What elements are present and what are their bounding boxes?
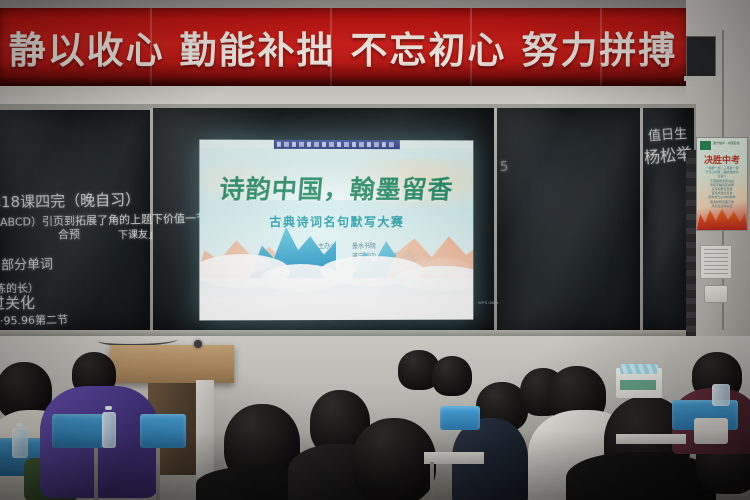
chalk-note: 解18课四完（晚自习） — [0, 188, 140, 212]
slide-bottom-band — [199, 298, 473, 321]
blackboard-divider — [640, 108, 643, 332]
blackboard-sheen — [496, 108, 640, 332]
wall-shelf — [684, 76, 720, 81]
waste-basket-label — [620, 380, 656, 390]
chalk-side-mark: 5 — [500, 160, 509, 175]
school-logo-text: 遂宁裕中 · 中国名校 — [713, 141, 740, 145]
foreground-shadow — [0, 430, 750, 500]
poster-title: 决胜中考 — [699, 153, 745, 166]
presentation-toolbar[interactable] — [274, 140, 400, 149]
student-head — [432, 356, 472, 396]
waste-basket-contents — [620, 364, 658, 374]
bottle-cap — [105, 406, 112, 410]
podium-top — [110, 345, 234, 383]
chalk-note: …部分单词 — [0, 253, 53, 273]
school-logo-icon — [700, 141, 711, 150]
blackboard-panel-center-right — [496, 108, 640, 332]
chalk-note: 合预 — [58, 226, 80, 242]
chalk-note: 过关化 — [0, 292, 35, 314]
slide-background: 诗韵中国，翰墨留香 古典诗词名句默写大赛 主办： 承办： 初2024级 时间： … — [199, 148, 473, 301]
poster-lines: 一年磨一剑，三年铸一身 千万心中梦，鏖战金秋中 注奋斗 不畏困难坚持决战 早起早… — [702, 166, 742, 208]
blackboard-divider — [494, 108, 497, 332]
wall-notice — [700, 245, 732, 279]
classroom-photo: 静以收心 勤能补拙 不忘初心 努力拼搏 解18课四完（晚自习） （例ABCD）引… — [0, 0, 750, 500]
chair[interactable] — [440, 406, 480, 430]
slide-title: 诗韵中国，翰墨留香 — [199, 170, 473, 206]
slide-subtitle: 古典诗词名句默写大赛 — [199, 213, 473, 230]
exam-poster: 遂宁裕中 · 中国名校 决胜中考 一年磨一剑，三年铸一身 千万心中梦，鏖战金秋中… — [696, 137, 748, 231]
cloud-white-4 — [396, 266, 473, 292]
wall-monitor — [686, 36, 716, 78]
banner-shadow — [0, 62, 686, 88]
microphone-icon — [194, 340, 202, 348]
light-switch[interactable] — [704, 285, 728, 303]
wall-dark-strip — [686, 150, 696, 340]
bottle-cap — [16, 423, 23, 427]
chalk-note: 下课友」 — [118, 226, 158, 242]
chalk-note: 94·95.96第二节 — [0, 311, 68, 329]
cup — [712, 384, 730, 406]
projection-screen: 诗韵中国，翰墨留香 古典诗词名句默写大赛 主办： 承办： 初2024级 时间： … — [199, 140, 473, 321]
poster-line: 风雨过后有彩虹 — [702, 204, 742, 208]
